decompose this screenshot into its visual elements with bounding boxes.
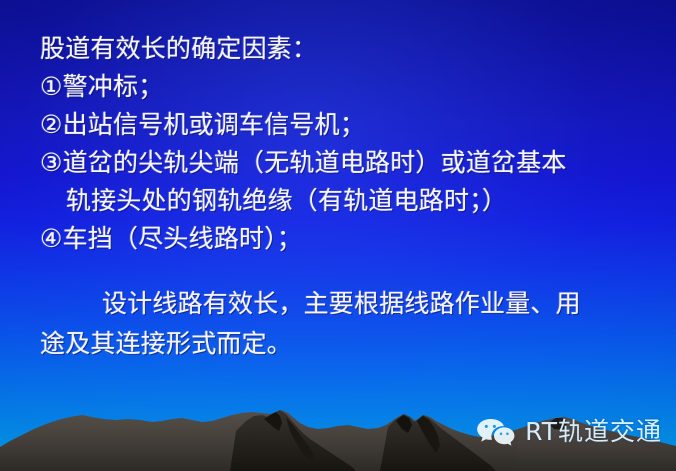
wechat-icon (476, 417, 516, 447)
list-item-4: ④车挡（尽头线路时）； (40, 220, 658, 258)
wechat-bubble-small-eye-left (500, 432, 503, 435)
content-spacer (40, 258, 658, 284)
watermark-label: RT轨道交通 (525, 417, 662, 447)
list-item-2: ②出站信号机或调车信号机； (40, 106, 658, 144)
wechat-watermark: RT轨道交通 (476, 415, 662, 449)
wechat-bubble-large-eye-right (493, 425, 496, 428)
slide-heading: 股道有效长的确定因素： (40, 30, 658, 68)
presentation-slide: 股道有效长的确定因素： ①警冲标； ②出站信号机或调车信号机； ③道岔的尖轨尖端… (0, 0, 676, 471)
list-item-3-continuation: 轨接头处的钢轨绝缘（有轨道电路时；） (40, 182, 658, 220)
list-item-3: ③道岔的尖轨尖端（无轨道电路时）或道岔基本 (40, 144, 658, 182)
wechat-bubble-small-eye-right (506, 432, 509, 435)
wechat-bubble-small (494, 427, 514, 445)
summary-paragraph-line-2: 途及其连接形式而定。 (40, 324, 658, 364)
wechat-bubble-large-eye-left (485, 425, 488, 428)
list-item-1: ①警冲标； (40, 68, 658, 106)
summary-paragraph-line-1: 设计线路有效长，主要根据线路作业量、用 (40, 284, 658, 324)
slide-text-content: 股道有效长的确定因素： ①警冲标； ②出站信号机或调车信号机； ③道岔的尖轨尖端… (0, 0, 676, 364)
